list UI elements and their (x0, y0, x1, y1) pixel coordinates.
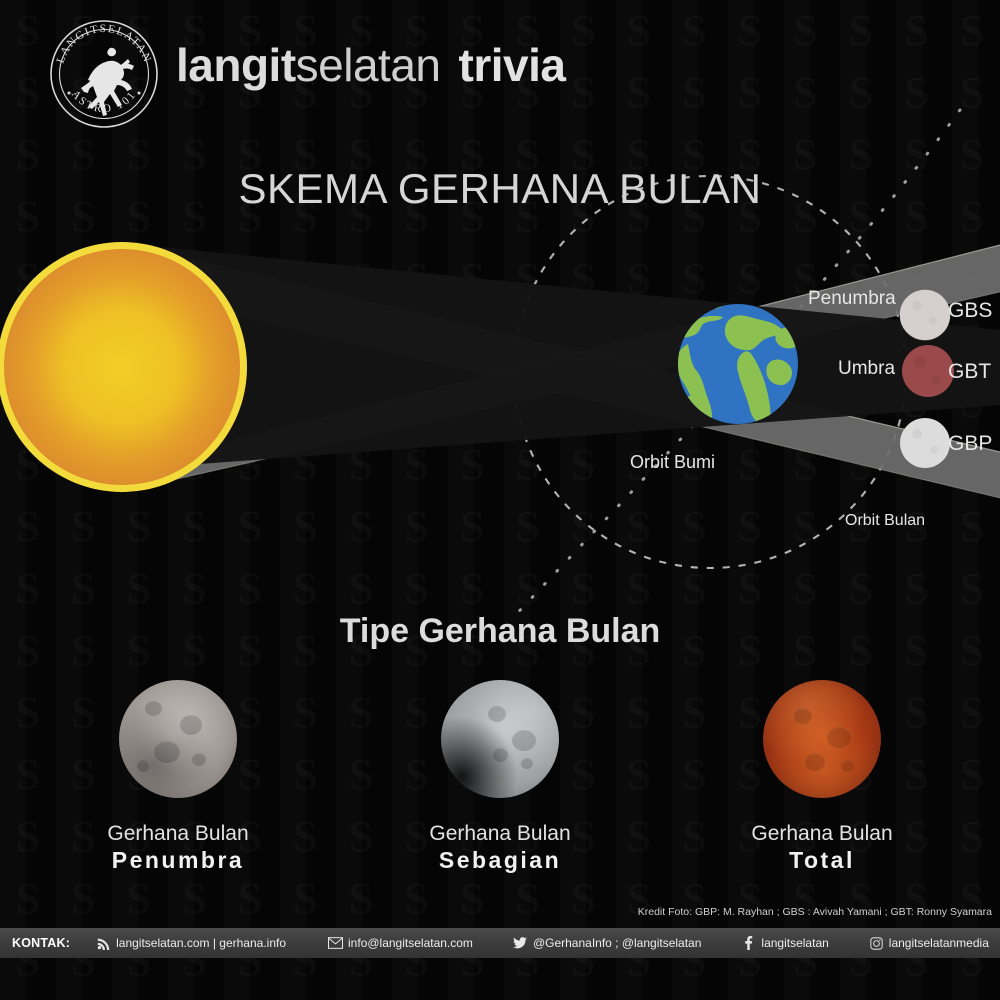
eclipse-type-partial: Gerhana Bulan Sebagian (405, 680, 595, 880)
moon-gbt (902, 345, 954, 397)
infographic-page: SSSSSSSSSSSSSSSSSSSSSSSSSSSSSSSSSSSSSSSS… (0, 0, 1000, 1000)
rss-icon (96, 936, 111, 951)
contact-item-facebook[interactable]: langitselatan (741, 936, 828, 951)
contact-text-twitter: @GerhanaInfo ; @langitselatan (533, 936, 701, 950)
section-title-types: Tipe Gerhana Bulan (0, 612, 1000, 651)
label-gbs: GBS (948, 299, 992, 323)
eclipse-type-list: Gerhana Bulan Penumbra Gerhana Bulan Seb… (0, 680, 1000, 880)
caption-partial: Gerhana Bulan Sebagian (405, 822, 595, 874)
label-gbt: GBT (948, 360, 991, 384)
caption-line2: Sebagian (405, 846, 595, 875)
contact-text-email: info@langitselatan.com (348, 936, 473, 950)
moon-gbp (900, 418, 950, 468)
caption-penumbral: Gerhana Bulan Penumbra (83, 822, 273, 874)
contact-label: KONTAK: (0, 936, 80, 950)
facebook-icon (741, 936, 756, 951)
contact-text-instagram: langitselatanmedia (889, 936, 989, 950)
photo-credits: Kredit Foto: GBP: M. Rayhan ; GBS : Aviv… (638, 906, 992, 918)
envelope-icon (328, 936, 343, 951)
contact-item-email[interactable]: info@langitselatan.com (328, 936, 473, 951)
eclipse-type-penumbral: Gerhana Bulan Penumbra (83, 680, 273, 880)
contact-bar: KONTAK: langitselatan.com | gerhana.info… (0, 928, 1000, 958)
contact-item-instagram[interactable]: langitselatanmedia (869, 936, 989, 951)
contact-item-website[interactable]: langitselatan.com | gerhana.info (96, 936, 286, 951)
caption-line1: Gerhana Bulan (405, 822, 595, 846)
label-umbra: Umbra (838, 358, 895, 380)
label-orbit-bulan: Orbit Bulan (845, 512, 925, 530)
label-gbp: GBP (948, 432, 992, 456)
penumbral-eclipse-photo (119, 680, 237, 798)
contact-item-twitter[interactable]: @GerhanaInfo ; @langitselatan (513, 936, 701, 951)
contact-text-facebook: langitselatan (761, 936, 828, 950)
eclipse-type-total: Gerhana Bulan Total (727, 680, 917, 880)
caption-line1: Gerhana Bulan (727, 822, 917, 846)
partial-eclipse-photo (441, 680, 559, 798)
instagram-icon (869, 936, 884, 951)
caption-line2: Total (727, 846, 917, 875)
caption-line1: Gerhana Bulan (83, 822, 273, 846)
caption-line2: Penumbra (83, 846, 273, 875)
contact-text-website: langitselatan.com | gerhana.info (116, 936, 286, 950)
total-eclipse-photo (763, 680, 881, 798)
twitter-icon (513, 936, 528, 951)
label-orbit-bumi: Orbit Bumi (630, 452, 715, 473)
label-penumbra: Penumbra (808, 288, 896, 310)
caption-total: Gerhana Bulan Total (727, 822, 917, 874)
sun (0, 242, 247, 492)
